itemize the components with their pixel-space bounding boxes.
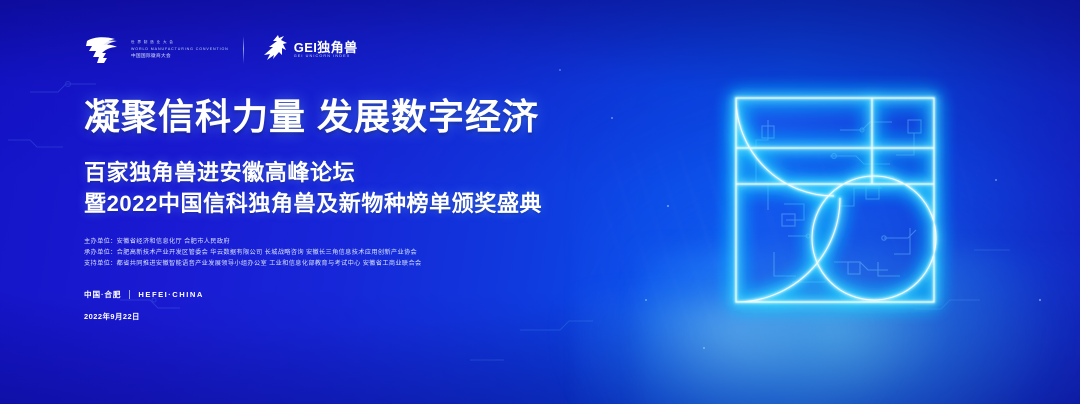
organizer-row-undertaker: 承办单位：合肥高新技术产业开发区管委会 华云数据有限公司 长城战略咨询 安徽长三…	[84, 249, 422, 257]
gei-logo-title: GEI独角兽	[294, 41, 358, 54]
logo-group: 世 界 制 造 业 大 会 WORLD MANUFACTURING CONVEN…	[84, 33, 357, 66]
gei-logo-subtitle: GEI UNICORN INDEX	[294, 55, 358, 59]
neon-xin-glyph	[722, 86, 948, 316]
organizer-row-support: 支持单位：都省共同推进安徽智能语音产业发展领导小组办公室 工业和信息化部教育与考…	[84, 260, 422, 268]
wmc-line-1: 世 界 制 造 业 大 会	[131, 40, 229, 44]
gei-unicorn-logo-icon	[258, 33, 288, 66]
organizer-row-host: 主办单位：安徽省经济和信息化厅 合肥市人民政府	[84, 238, 422, 246]
event-date: 2022年9月22日	[84, 311, 140, 322]
event-banner: 世 界 制 造 业 大 会 WORLD MANUFACTURING CONVEN…	[0, 0, 1080, 404]
wmc-line-3: 中国国际徽商大会	[131, 53, 229, 59]
sub-headline-line-2: 暨2022中国信科独角兽及新物种榜单颁奖盛典	[84, 188, 542, 219]
sub-headline: 百家独角兽进安徽高峰论坛 暨2022中国信科独角兽及新物种榜单颁奖盛典	[84, 157, 542, 219]
wmc-logo: 世 界 制 造 业 大 会 WORLD MANUFACTURING CONVEN…	[84, 35, 229, 65]
location-en: HEFEI·CHINA	[138, 290, 203, 299]
location-cn: 中国·合肥	[84, 289, 121, 300]
location-divider-icon	[129, 290, 130, 299]
main-headline: 凝聚信科力量 发展数字经济	[84, 96, 539, 138]
event-location: 中国·合肥 HEFEI·CHINA	[84, 289, 204, 300]
wmc-eagle-logo-icon	[84, 35, 124, 65]
vertical-divider-icon	[243, 36, 244, 64]
wmc-line-2: WORLD MANUFACTURING CONVENTION	[131, 47, 229, 51]
sub-headline-line-1: 百家独角兽进安徽高峰论坛	[84, 157, 542, 188]
gei-logo: GEI独角兽 GEI UNICORN INDEX	[258, 33, 358, 66]
organizer-list: 主办单位：安徽省经济和信息化厅 合肥市人民政府 承办单位：合肥高新技术产业开发区…	[84, 238, 422, 268]
wmc-logo-text: 世 界 制 造 业 大 会 WORLD MANUFACTURING CONVEN…	[131, 40, 229, 59]
gei-logo-text: GEI独角兽 GEI UNICORN INDEX	[294, 41, 358, 59]
